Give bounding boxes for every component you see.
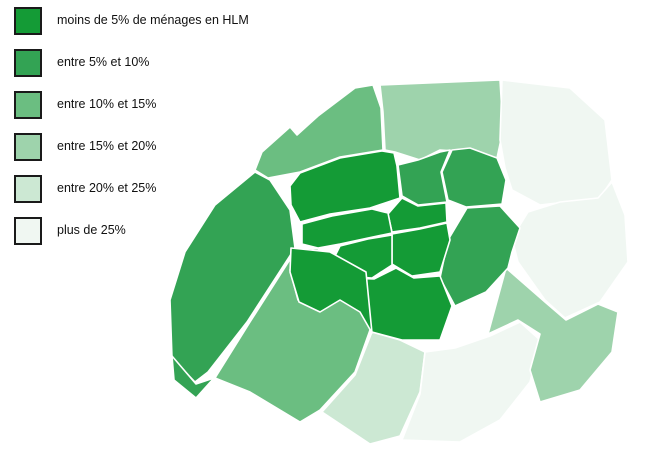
legend: moins de 5% de ménages en HLM entre 5% e…	[0, 0, 270, 252]
legend-swatch-5	[14, 217, 42, 245]
legend-label-5: plus de 25%	[57, 224, 126, 238]
legend-label-3: entre 15% et 20%	[57, 140, 156, 154]
legend-swatch-4	[14, 175, 42, 203]
legend-item-0[interactable]: moins de 5% de ménages en HLM	[0, 0, 270, 42]
legend-swatch-0	[14, 7, 42, 35]
legend-swatch-2	[14, 91, 42, 119]
legend-label-2: entre 10% et 15%	[57, 98, 156, 112]
legend-swatch-3	[14, 133, 42, 161]
legend-item-3[interactable]: entre 15% et 20%	[0, 126, 270, 168]
legend-item-4[interactable]: entre 20% et 25%	[0, 168, 270, 210]
legend-item-1[interactable]: entre 5% et 10%	[0, 42, 270, 84]
legend-swatch-1	[14, 49, 42, 77]
choropleth-map-figure: moins de 5% de ménages en HLM entre 5% e…	[0, 0, 647, 465]
legend-label-0: moins de 5% de ménages en HLM	[57, 14, 249, 28]
legend-label-4: entre 20% et 25%	[57, 182, 156, 196]
region-19e[interactable]	[500, 80, 612, 205]
region-9e[interactable]	[398, 150, 450, 205]
legend-item-5[interactable]: plus de 25%	[0, 210, 270, 252]
legend-item-2[interactable]: entre 10% et 15%	[0, 84, 270, 126]
region-18e[interactable]	[380, 80, 503, 160]
legend-label-1: entre 5% et 10%	[57, 56, 149, 70]
